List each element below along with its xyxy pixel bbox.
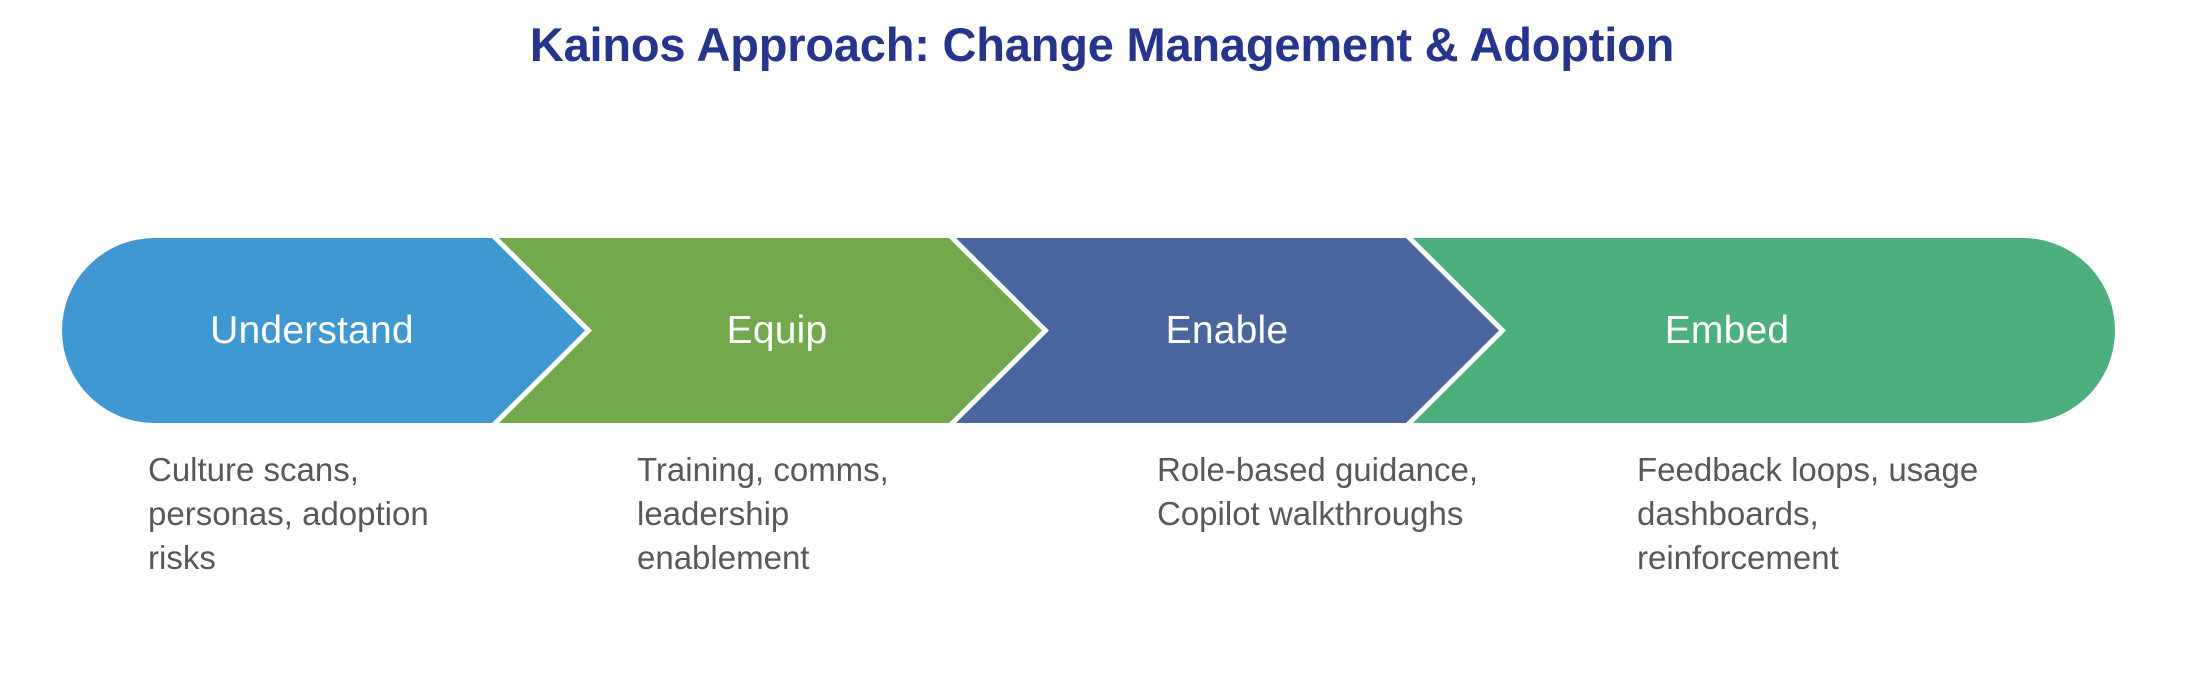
stage-description-equip: Training, comms, leadership enablement <box>637 448 967 580</box>
process-chevron-band: Understand Equip Enable Embed <box>62 238 2115 423</box>
chevron-segment-embed[interactable] <box>1413 238 2115 423</box>
stage-description-embed: Feedback loops, usage dashboards, reinfo… <box>1637 448 1997 580</box>
slide-canvas: Kainos Approach: Change Management & Ado… <box>0 0 2204 676</box>
stage-description-understand: Culture scans, personas, adoption risks <box>148 448 478 580</box>
page-title: Kainos Approach: Change Management & Ado… <box>0 18 2204 72</box>
stage-description-enable: Role-based guidance, Copilot walkthrough… <box>1157 448 1487 536</box>
chevron-segment-understand[interactable] <box>62 238 585 423</box>
chevron-band-svg <box>62 238 2115 423</box>
